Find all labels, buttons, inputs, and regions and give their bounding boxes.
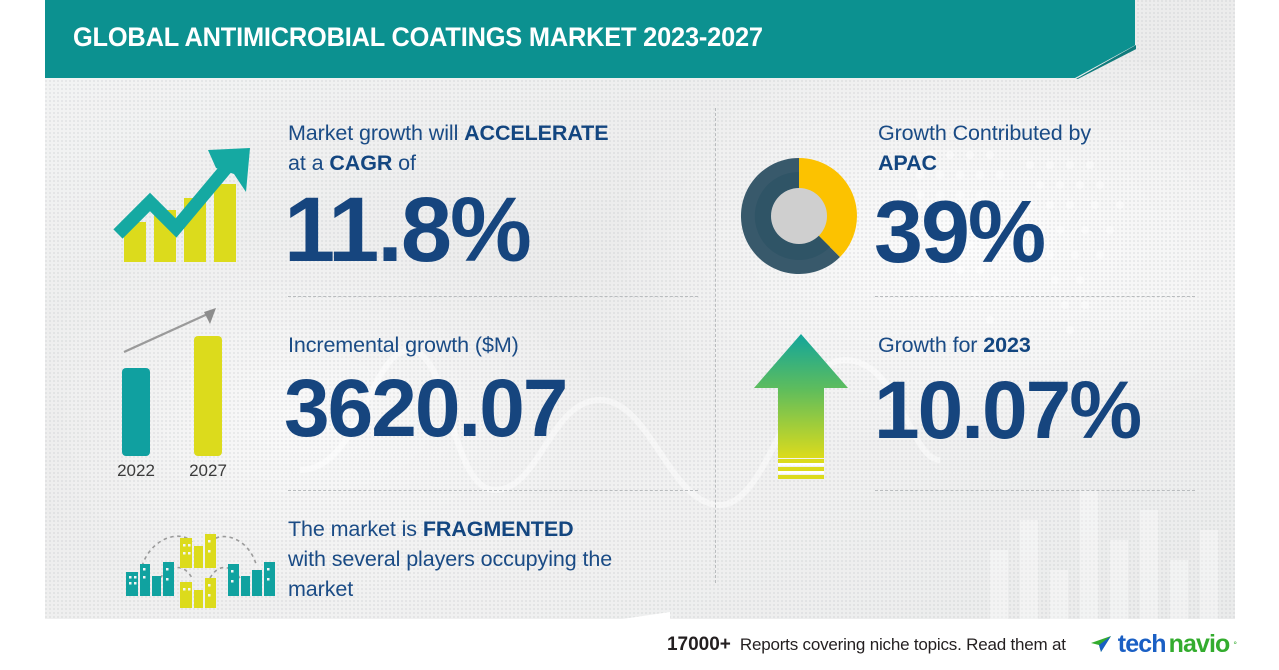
cagr-caption-line1-pre: Market growth will: [288, 121, 464, 145]
technavio-logo-navio: navio: [1169, 630, 1230, 659]
city-cluster-icon: [118, 520, 278, 612]
panel-cagr: Market growth will ACCELERATE at a CAGR …: [288, 118, 708, 276]
page-title: GLOBAL ANTIMICROBIAL COATINGS MARKET 202…: [73, 22, 763, 53]
apac-region-label: APAC: [878, 151, 937, 175]
technavio-mark-icon: [1089, 632, 1115, 658]
panel-apac: Growth Contributed by APAC 39%: [878, 118, 1208, 276]
fragmentation-fragmented: FRAGMENTED: [423, 517, 574, 541]
growth-chart-icon: [110, 140, 262, 262]
cagr-caption-line2-pre: at a: [288, 151, 329, 175]
fragmentation-caption: The market is FRAGMENTED with several pl…: [288, 514, 688, 604]
fragmentation-line2: with several players occupying the: [288, 547, 612, 571]
infographic-root: GLOBAL ANTIMICROBIAL COATINGS MARKET 202…: [0, 0, 1279, 670]
technavio-logo[interactable]: technavio°: [1089, 630, 1237, 659]
incremental-growth-value: 3620.07: [284, 368, 708, 450]
cagr-caption-cagr: CAGR: [329, 151, 392, 175]
growth-2023-year: 2023: [983, 333, 1030, 357]
divider-left-1: [288, 296, 698, 297]
cagr-caption-accelerate: ACCELERATE: [464, 121, 608, 145]
cagr-caption-line2-post: of: [392, 151, 416, 175]
cagr-caption: Market growth will ACCELERATE at a CAGR …: [288, 118, 708, 178]
panel-growth-2023: Growth for 2023 10.07%: [878, 330, 1218, 452]
fragmentation-line1-pre: The market is: [288, 517, 423, 541]
incremental-growth-caption: Incremental growth ($M): [288, 330, 708, 360]
panel-fragmentation: The market is FRAGMENTED with several pl…: [288, 514, 688, 604]
apac-caption: Growth Contributed by APAC: [878, 118, 1208, 178]
divider-right-1: [875, 296, 1195, 297]
fragmentation-line3: market: [288, 577, 353, 601]
technavio-logo-tech: tech: [1118, 630, 1166, 659]
footer: 17000+ Reports covering niche topics. Re…: [0, 619, 1279, 670]
cagr-value: 11.8%: [284, 184, 708, 276]
divider-left-2: [288, 490, 698, 491]
growth-2023-caption-pre: Growth for: [878, 333, 983, 357]
bar-label-2027: 2027: [189, 461, 227, 480]
apac-caption-line1: Growth Contributed by: [878, 121, 1091, 145]
bar-comparison-icon: 2022 2027: [108, 300, 263, 482]
growth-2023-value: 10.07%: [874, 370, 1218, 452]
bar-label-2022: 2022: [117, 461, 155, 480]
panel-incremental-growth: Incremental growth ($M) 3620.07: [288, 330, 708, 450]
divider-right-2: [875, 490, 1195, 491]
column-divider: [715, 108, 716, 583]
growth-2023-caption: Growth for 2023: [878, 330, 1218, 360]
apac-value: 39%: [874, 188, 1208, 276]
footer-tagline: Reports covering niche topics. Read them…: [740, 635, 1066, 655]
up-arrow-icon: [748, 330, 854, 480]
technavio-logo-tm: °: [1233, 640, 1237, 650]
report-count: 17000+: [667, 634, 731, 656]
donut-chart-icon: [735, 152, 863, 280]
